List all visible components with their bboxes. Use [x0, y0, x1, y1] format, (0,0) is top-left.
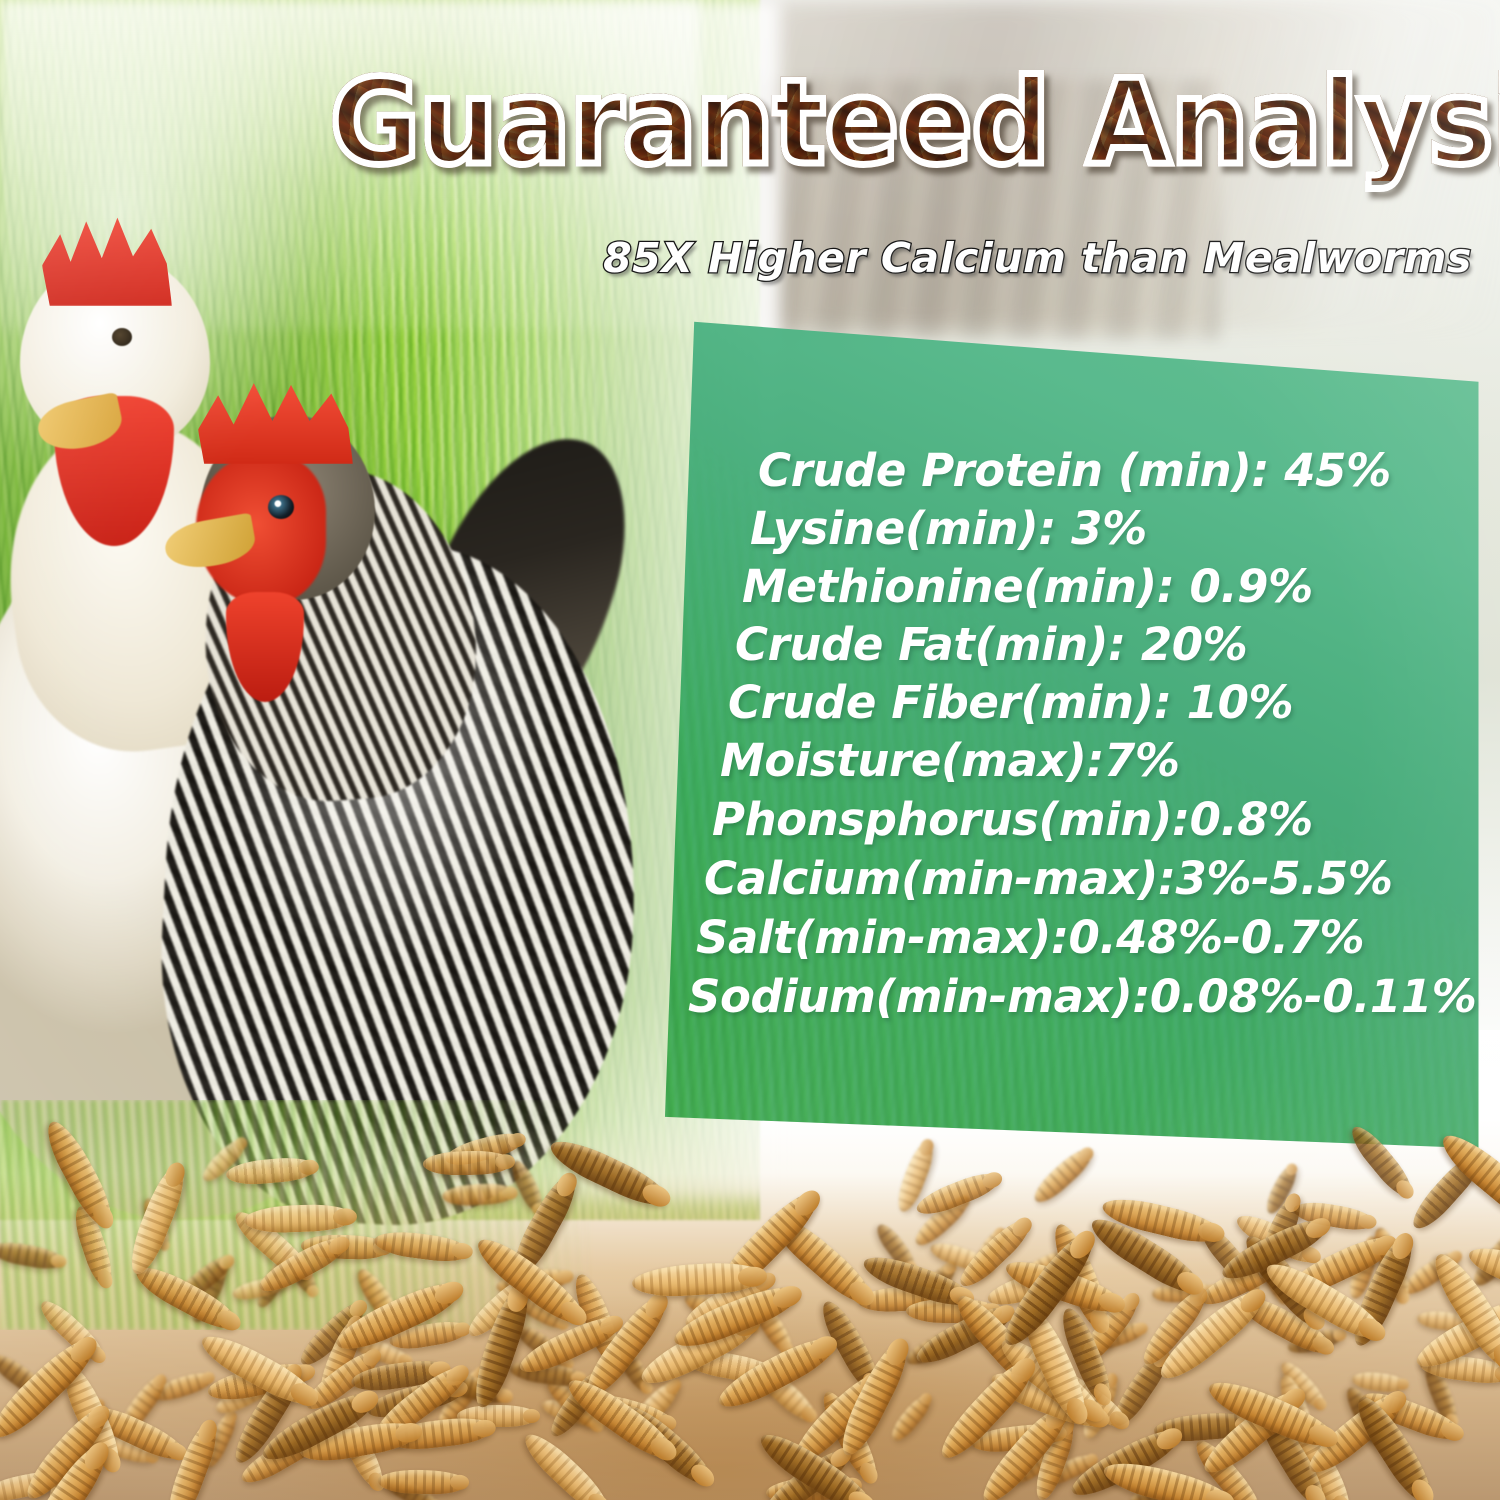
larva	[518, 1427, 616, 1500]
product-infographic: Guaranteed Analysis 85X Higher Calcium t…	[0, 0, 1500, 1500]
spec-row: Moisture(max):7%	[720, 738, 1180, 783]
guaranteed-analysis-list: Crude Protein (min): 45%Lysine(min): 3%M…	[640, 300, 1500, 1170]
spec-row: Calcium(min-max):3%-5.5%	[704, 856, 1393, 901]
page-subtitle: 85X Higher Calcium than Mealworms	[575, 228, 1500, 288]
spec-row: Salt(min-max):0.48%-0.7%	[696, 915, 1364, 960]
white-hen-eye	[112, 328, 132, 346]
spec-row: Phonsphorus(min):0.8%	[712, 797, 1313, 842]
page-title: Guaranteed Analysis	[330, 63, 1500, 181]
spec-row: Methionine(min): 0.9%	[742, 564, 1313, 609]
larva	[378, 1468, 468, 1494]
barred-hen-eye	[268, 495, 294, 519]
spec-row: Sodium(min-max):0.08%-0.11%	[688, 974, 1476, 1019]
spec-row: Lysine(min): 3%	[750, 506, 1147, 551]
spec-row: Crude Protein (min): 45%	[758, 448, 1391, 493]
larva	[886, 1391, 935, 1445]
spec-row: Crude Fat(min): 20%	[735, 622, 1247, 667]
spec-row: Crude Fiber(min): 10%	[728, 680, 1293, 725]
title-area: Guaranteed Analysis	[330, 52, 1500, 192]
